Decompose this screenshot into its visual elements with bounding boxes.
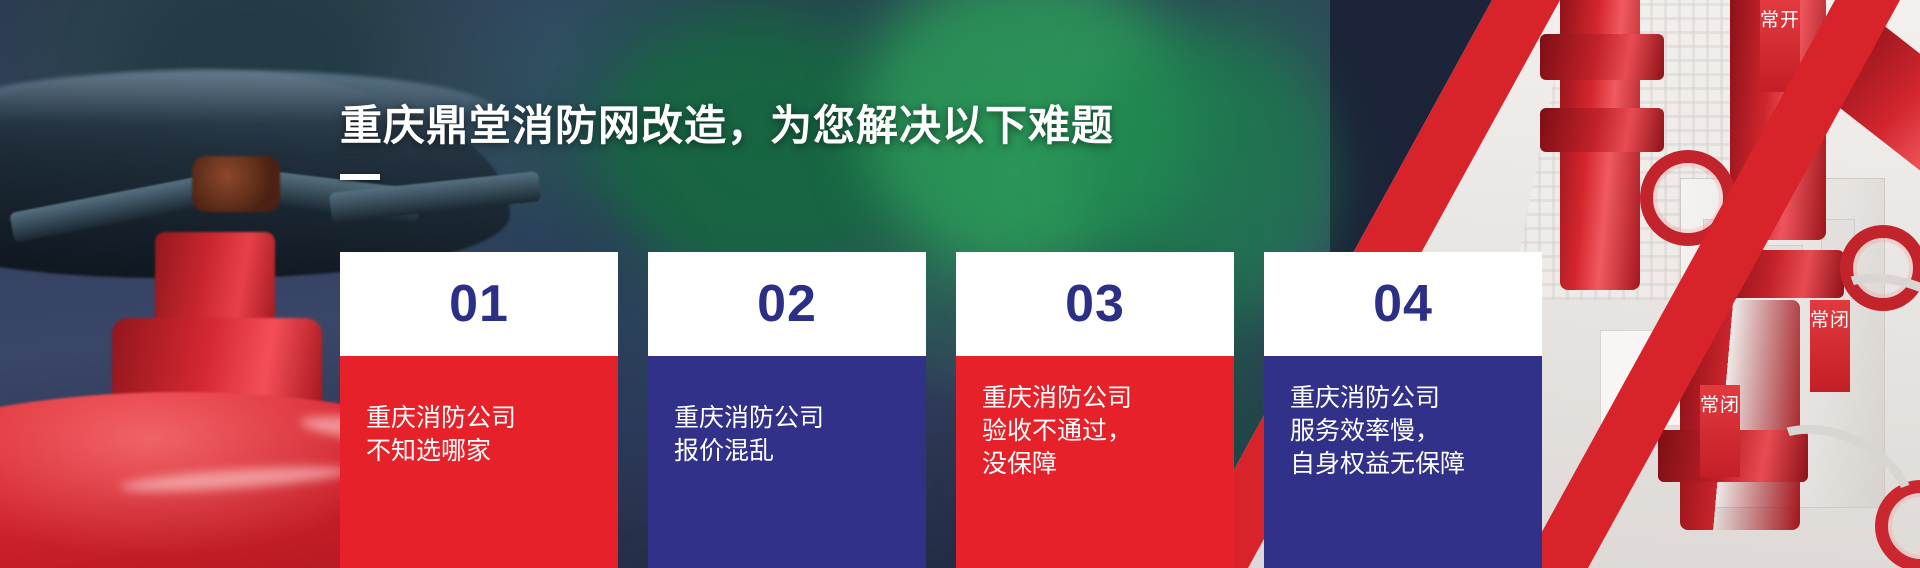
- pain-point-card-04[interactable]: 04 重庆消防公司 服务效率慢， 自身权益无保障: [1264, 252, 1542, 568]
- card-text: 重庆消防公司 报价混乱: [648, 356, 926, 568]
- pain-point-card-01[interactable]: 01 重庆消防公司 不知选哪家: [340, 252, 618, 568]
- card-number: 04: [1264, 252, 1542, 356]
- promo-banner: 常开 常闭 常闭 常闭 重庆鼎堂消防网改造，为您解决以下难题 01 重庆消防公司…: [0, 0, 1920, 568]
- card-text: 重庆消防公司 不知选哪家: [340, 356, 618, 568]
- card-number: 02: [648, 252, 926, 356]
- card-number: 03: [956, 252, 1234, 356]
- pain-point-card-03[interactable]: 03 重庆消防公司 验收不通过， 没保障: [956, 252, 1234, 568]
- card-text: 重庆消防公司 服务效率慢， 自身权益无保障: [1264, 356, 1542, 568]
- card-text: 重庆消防公司 验收不通过， 没保障: [956, 356, 1234, 568]
- card-number: 01: [340, 252, 618, 356]
- pain-point-card-list: 01 重庆消防公司 不知选哪家 02 重庆消防公司 报价混乱 03 重庆消防公司…: [340, 252, 1542, 568]
- page-title: 重庆鼎堂消防网改造，为您解决以下难题: [340, 92, 1114, 153]
- pain-point-card-02[interactable]: 02 重庆消防公司 报价混乱: [648, 252, 926, 568]
- banner-content: 重庆鼎堂消防网改造，为您解决以下难题 01 重庆消防公司 不知选哪家 02 重庆…: [0, 0, 1920, 568]
- title-underline: [340, 174, 380, 180]
